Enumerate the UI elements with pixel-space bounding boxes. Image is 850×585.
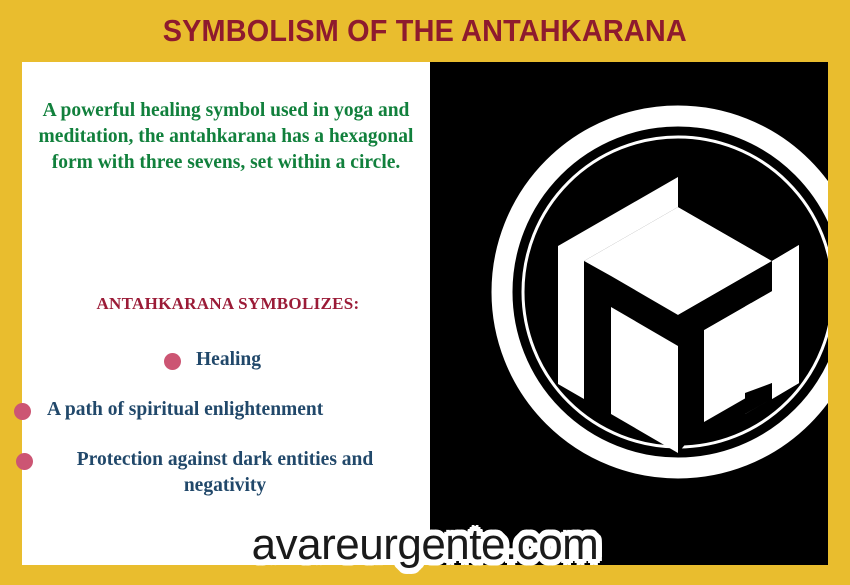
intro-paragraph: A powerful healing symbol used in yoga a…	[34, 98, 418, 176]
list-item: Protection against dark entities and neg…	[16, 447, 430, 499]
bullet-dot-icon	[164, 353, 181, 370]
title-bar: SYMBOLISM OF THE ANTAHKARANA	[0, 0, 850, 62]
symbolizes-list: Healing A path of spiritual enlightenmen…	[22, 347, 430, 523]
symbol-container	[430, 62, 828, 565]
list-item-label: A path of spiritual enlightenment	[47, 397, 323, 423]
content-panel: A powerful healing symbol used in yoga a…	[22, 62, 430, 565]
list-item-label: Healing	[196, 347, 261, 373]
list-item: A path of spiritual enlightenment	[10, 397, 430, 423]
list-item: Healing	[22, 347, 430, 373]
antahkarana-symbol-icon	[488, 102, 828, 482]
bullet-dot-icon	[14, 403, 31, 420]
poster-page: SYMBOLISM OF THE ANTAHKARANA A powerful …	[0, 0, 850, 585]
list-item-label: Protection against dark entities and neg…	[35, 447, 415, 499]
symbolizes-heading: ANTAHKARANA SYMBOLIZES:	[36, 294, 420, 314]
page-title: SYMBOLISM OF THE ANTAHKARANA	[163, 13, 687, 49]
bullet-dot-icon	[16, 453, 33, 470]
image-panel	[430, 62, 828, 565]
